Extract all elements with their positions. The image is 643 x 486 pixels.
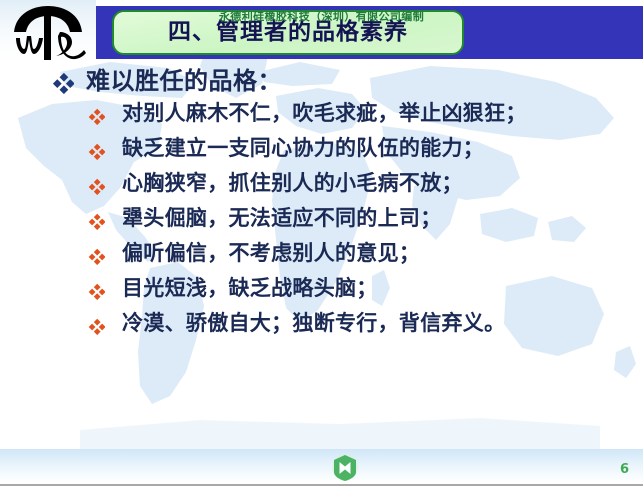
list-item-text: 偏听偏信，不考虑别人的意见； xyxy=(122,240,420,267)
page-title: 四、管理者的品格素养 xyxy=(168,21,408,44)
sub-bullet-list: 对别人麻木不仁，吹毛求疵，举止凶狠狂； 缺乏建立一支同心协力的队伍的能力； xyxy=(0,100,643,345)
diamond-cluster-bullet-icon xyxy=(88,310,108,339)
list-item: 目光短浅，缺乏战略头脑； xyxy=(0,275,643,310)
page-number: 6 xyxy=(620,462,629,477)
list-item-text: 心胸狭窄，抓住别人的小毛病不放； xyxy=(122,170,463,197)
diamond-cluster-bullet-icon xyxy=(88,205,108,234)
footer-band xyxy=(0,449,643,482)
diamond-cluster-bullet-icon xyxy=(88,275,108,304)
list-item-text: 对别人麻木不仁，吹毛求疵，举止凶狠狂； xyxy=(122,100,527,127)
list-item: 犟头倔脑，无法适应不同的上司； xyxy=(0,205,643,240)
list-item: 偏听偏信，不考虑别人的意见； xyxy=(0,240,643,275)
diamond-cluster-bullet-icon xyxy=(88,170,108,199)
list-item: 对别人麻木不仁，吹毛求疵，举止凶狠狂； xyxy=(0,100,643,135)
list-item-text: 冷漠、骄傲自大；独断专行，背信弃义。 xyxy=(122,310,505,337)
lead-text: 难以胜任的品格： xyxy=(86,66,282,97)
slide-body: 难以胜任的品格： 对别人麻木不仁，吹毛求疵，举止凶狠狂； xyxy=(0,66,643,345)
list-item: 缺乏建立一支同心协力的队伍的能力； xyxy=(0,135,643,170)
diamond-cluster-bullet-icon xyxy=(52,66,76,98)
list-item: 心胸狭窄，抓住别人的小毛病不放； xyxy=(0,170,643,205)
company-shield-logo-icon xyxy=(331,452,359,482)
list-item-text: 犟头倔脑，无法适应不同的上司； xyxy=(122,205,442,232)
slide: 四、管理者的品格素养 难以胜任的品 xyxy=(0,0,643,486)
list-item-text: 目光短浅，缺乏战略头脑； xyxy=(122,275,378,302)
footer-text: 永德利硅橡胶科技（深圳）有限公司编制 xyxy=(0,8,643,24)
lead-bullet-row: 难以胜任的品格： xyxy=(0,66,643,98)
diamond-cluster-bullet-icon xyxy=(88,135,108,164)
list-item-text: 缺乏建立一支同心协力的队伍的能力； xyxy=(122,135,484,162)
diamond-cluster-bullet-icon xyxy=(88,100,108,129)
diamond-cluster-bullet-icon xyxy=(88,240,108,269)
list-item: 冷漠、骄傲自大；独断专行，背信弃义。 xyxy=(0,310,643,345)
